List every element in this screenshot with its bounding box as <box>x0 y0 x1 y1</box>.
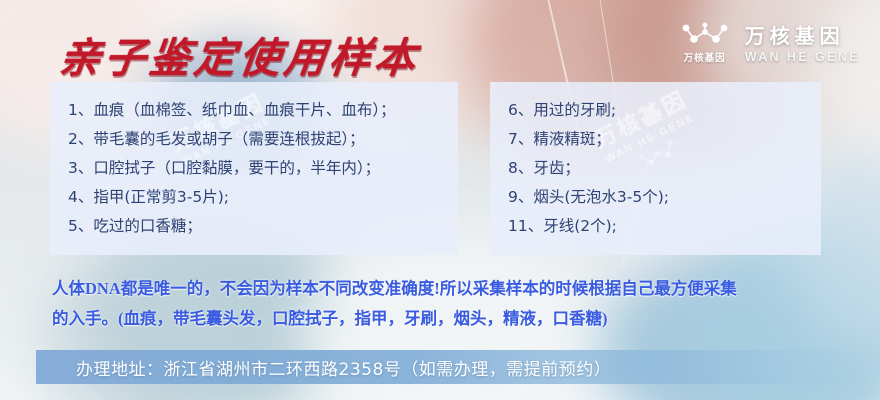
list-item: 11、牙线(2个); <box>508 212 821 241</box>
brand-mark: 万核基因 <box>679 21 731 64</box>
list-item: 2、带毛囊的毛发或胡子（需要连根拔起）； <box>68 125 458 154</box>
note-paragraph: 人体DNA都是唯一的，不会因为样本不同改变准确度!所以采集样本的时候根据自己最方… <box>52 274 842 334</box>
brand-name-cn: 万核基因 <box>745 20 845 49</box>
list-item: 9、烟头(无泡水3-5个); <box>508 183 821 212</box>
list-item: 6、用过的牙刷; <box>508 96 821 125</box>
page-title: 亲子鉴定使用样本 <box>56 24 423 84</box>
list-item: 1、血痕（血棉签、纸巾血、血痕干片、血布）； <box>68 96 458 125</box>
list-item: 8、牙齿； <box>508 154 821 183</box>
address-text: 办理地址：浙江省湖州市二环西路2358号（如需办理，需提前预约） <box>76 355 611 380</box>
sample-list-left: 1、血痕（血棉签、纸巾血、血痕干片、血布）； 2、带毛囊的毛发或胡子（需要连根拔… <box>68 96 458 241</box>
poster-root: 亲子鉴定使用样本 万核 <box>0 0 880 400</box>
brand-mark-label: 万核基因 <box>684 50 726 64</box>
list-item: 4、指甲(正常剪3-5片); <box>68 183 458 212</box>
address-bar: 办理地址：浙江省湖州市二环西路2358号（如需办理，需提前预约） <box>36 350 860 384</box>
list-item: 3、口腔拭子（口腔黏膜，要干的，半年内）； <box>68 154 458 183</box>
note-line-2: 的入手。(血痕，带毛囊头发，口腔拭子，指甲，牙刷，烟头，精液，口香糖) <box>52 304 842 334</box>
sample-panel-left: 万核基因 WAN HE GENE 1、血痕（血棉签、纸巾血、血痕干片、血布）； … <box>50 82 458 255</box>
note-line-1: 人体DNA都是唯一的，不会因为样本不同改变准确度!所以采集样本的时候根据自己最方… <box>52 274 842 304</box>
list-item: 5、吃过的口香糖； <box>68 212 458 241</box>
list-item: 7、精液精斑； <box>508 125 821 154</box>
sample-list-right: 6、用过的牙刷; 7、精液精斑； 8、牙齿； 9、烟头(无泡水3-5个); 11… <box>508 96 821 241</box>
sample-panel-right: 万核基因 WAN HE GENE 6、用过的牙刷; 7、精液精斑； 8、牙齿； … <box>490 82 821 255</box>
brand-wordmark: 万核基因 WAN HE GENE <box>745 20 860 64</box>
brand-name-en: WAN HE GENE <box>745 50 860 64</box>
brand-logo: 万核基因 万核基因 WAN HE GENE <box>679 20 860 64</box>
molecule-icon <box>679 21 731 47</box>
